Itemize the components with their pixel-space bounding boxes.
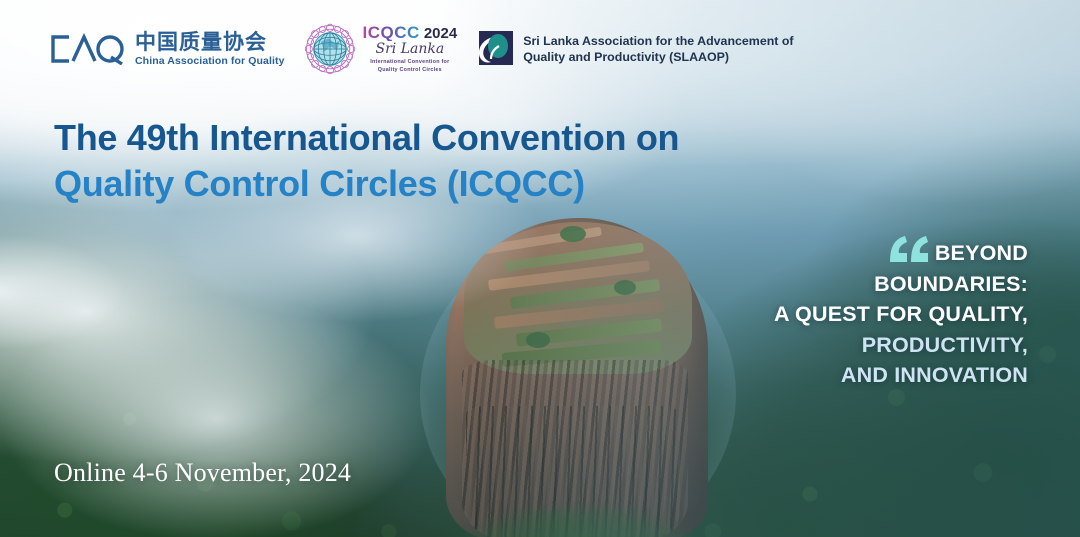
icqcc-host-country: Sri Lanka (376, 42, 445, 56)
caq-chinese-name: 中国质量协会 (135, 32, 285, 53)
icqcc-mandala-emblem-icon (303, 22, 357, 76)
tagline-line-5: AND INNOVATION (698, 360, 1028, 391)
event-title: The 49th International Convention on Qua… (54, 115, 679, 207)
icqcc-text-block: ICQCC 2024 Sri Lanka International Conve… (363, 24, 458, 75)
tagline-text-1: BEYOND (935, 241, 1028, 265)
event-tagline: BEYOND BOUNDARIES: A QUEST FOR QUALITY, … (698, 236, 1028, 391)
icqcc-abbreviation: ICQCC (363, 24, 420, 41)
foreground-mist-wisp (0, 180, 290, 380)
slaaop-name: Sri Lanka Association for the Advancemen… (523, 33, 793, 66)
caq-text-block: 中国质量协会 China Association for Quality (135, 32, 285, 67)
tagline-line-1: BEYOND (698, 236, 1028, 269)
conference-banner: 中国质量协会 China Association for Quality (0, 0, 1080, 537)
tagline-line-3: A QUEST FOR QUALITY, (698, 299, 1028, 330)
tagline-line-4: PRODUCTIVITY, (698, 330, 1028, 361)
sponsor-logo-bar: 中国质量协会 China Association for Quality (48, 22, 794, 76)
logo-slaaop: Sri Lanka Association for the Advancemen… (475, 29, 793, 69)
caq-english-name: China Association for Quality (135, 56, 285, 67)
tagline-line-2: BOUNDARIES: (698, 269, 1028, 300)
slaaop-leaf-icon (475, 29, 515, 69)
event-title-line1: The 49th International Convention on (54, 115, 679, 161)
open-quote-icon (888, 236, 930, 262)
icqcc-title-row: ICQCC 2024 (363, 24, 458, 41)
caq-monogram-icon (48, 33, 126, 65)
logo-caq: 中国质量协会 China Association for Quality (48, 32, 285, 67)
logo-icqcc: ICQCC 2024 Sri Lanka International Conve… (303, 22, 458, 76)
event-title-line2: Quality Control Circles (ICQCC) (54, 161, 679, 207)
icqcc-year: 2024 (424, 26, 457, 41)
event-date: Online 4-6 November, 2024 (54, 458, 351, 488)
icqcc-subtitle: International Convention for Quality Con… (370, 59, 449, 75)
